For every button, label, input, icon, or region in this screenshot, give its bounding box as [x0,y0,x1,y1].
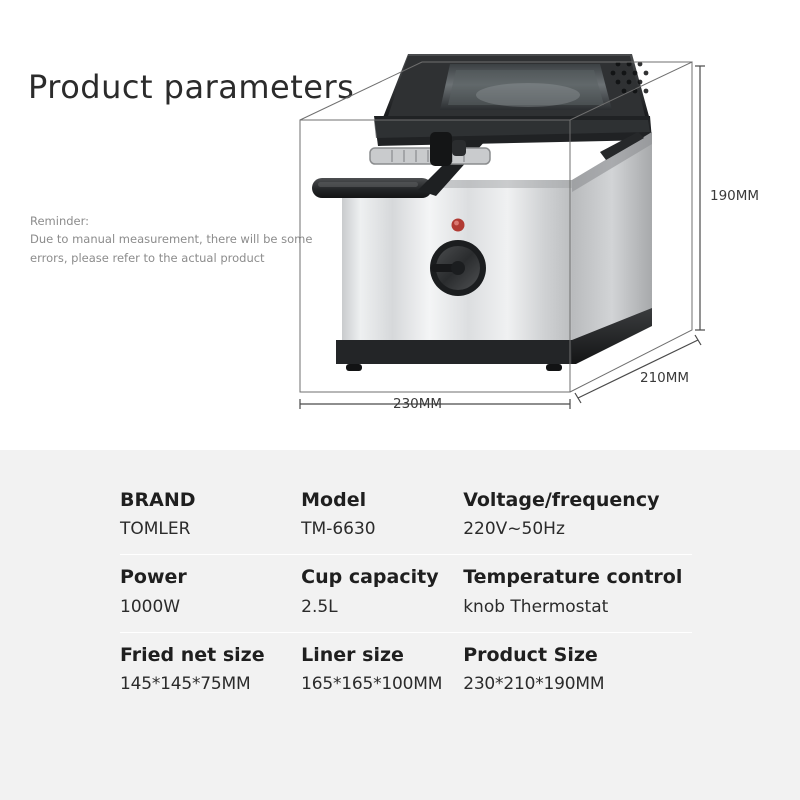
spec-cell-power: Power 1000W [120,563,301,621]
spec-key: Cup capacity [301,563,463,592]
spec-table: BRAND TOMLER Model TM-6630 Voltage/frequ… [0,450,800,709]
spec-value: 1000W [120,593,301,622]
spec-cell-temperature-control: Temperature control knob Thermostat [463,563,692,621]
spec-value: 230*210*190MM [463,670,692,699]
dimension-width-label: 230MM [393,396,442,412]
spec-key: Voltage/frequency [463,486,692,515]
spec-key: Power [120,563,301,592]
spec-value: TM-6630 [301,515,463,544]
spec-cell-fried-net-size: Fried net size 145*145*75MM [120,641,301,699]
spec-key: Model [301,486,463,515]
table-row: Power 1000W Cup capacity 2.5L Temperatur… [120,554,692,631]
spec-value: 145*145*75MM [120,670,301,699]
spec-key: Liner size [301,641,463,670]
spec-key: BRAND [120,486,301,515]
spec-cell-product-size: Product Size 230*210*190MM [463,641,692,699]
dimension-height-label: 190MM [710,188,759,204]
spec-key: Fried net size [120,641,301,670]
spec-value: knob Thermostat [463,593,692,622]
spec-key: Temperature control [463,563,692,592]
product-image-section: Product parameters Reminder: Due to manu… [0,0,800,450]
spec-value: 165*165*100MM [301,670,463,699]
spec-value: 220V~50Hz [463,515,692,544]
spec-cell-capacity: Cup capacity 2.5L [301,563,463,621]
table-row: Fried net size 145*145*75MM Liner size 1… [120,632,692,709]
dimension-depth-label: 210MM [640,370,689,386]
spec-cell-voltage: Voltage/frequency 220V~50Hz [463,486,692,544]
product-parameters-page: Product parameters Reminder: Due to manu… [0,0,800,800]
spec-key: Product Size [463,641,692,670]
spec-cell-model: Model TM-6630 [301,486,463,544]
spec-cell-liner-size: Liner size 165*165*100MM [301,641,463,699]
spec-value: 2.5L [301,593,463,622]
spec-cell-brand: BRAND TOMLER [120,486,301,544]
table-row: BRAND TOMLER Model TM-6630 Voltage/frequ… [120,476,692,554]
spec-value: TOMLER [120,515,301,544]
spec-table-section: BRAND TOMLER Model TM-6630 Voltage/frequ… [0,450,800,800]
